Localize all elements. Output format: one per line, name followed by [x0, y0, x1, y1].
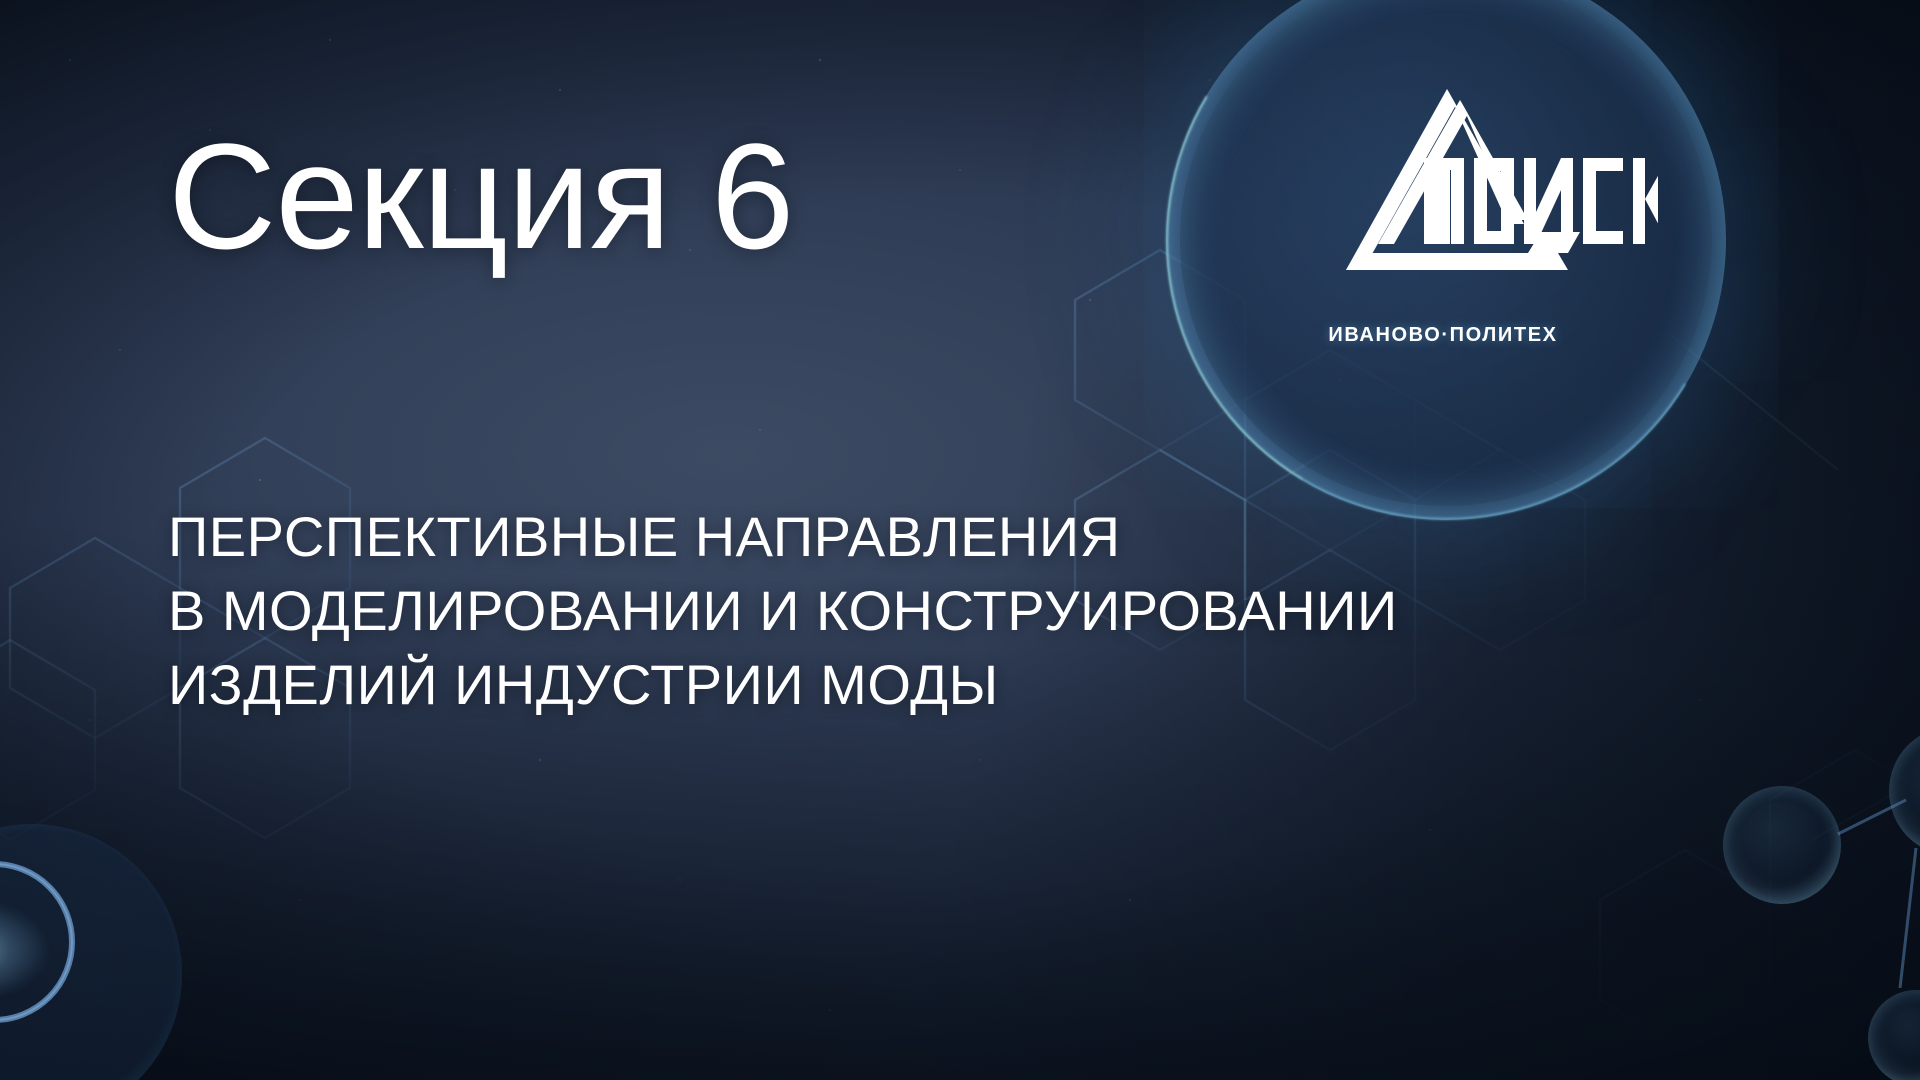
- presentation-slide: ИВАНОВО·ПОЛИТЕХ Секция 6 ПЕРСПЕКТИВНЫЕ Н…: [0, 0, 1920, 1080]
- bubble-connectors: [0, 0, 1920, 1080]
- decorative-bubble: [1723, 786, 1841, 904]
